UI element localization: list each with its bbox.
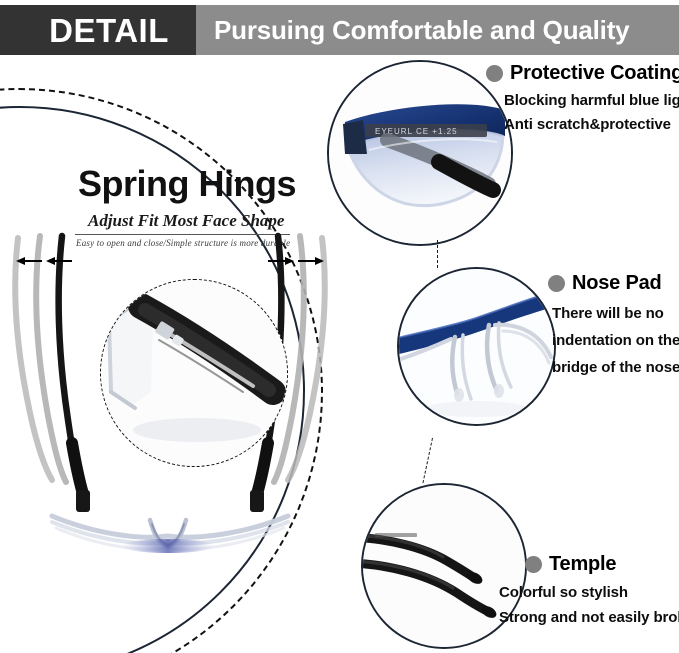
nose-pad-illustration [399,269,554,424]
callout-title: Protective Coating [510,62,679,85]
callout-body-line: Anti scratch&protective [504,116,679,133]
callout-body-line: Colorful so stylish [499,584,679,601]
detail-badge-label: DETAIL [27,14,169,47]
coated-lens-illustration: EYEURL CE +1.25 [329,62,511,244]
callout-text-nose-pad: Nose Pad There will be no indentation on… [548,272,679,376]
callout-text-protective-coating: Protective Coating Blocking harmful blue… [486,62,679,133]
callout-body-line: Strong and not easily broken [499,609,679,626]
hinge-zoom-circle [100,279,288,467]
callout-text-temple: Temple Colorful so stylish Strong and no… [525,553,679,626]
spring-hinge-subtitle: Adjust Fit Most Face Shape [88,211,284,231]
callout-body-line: Blocking harmful blue light [504,92,679,109]
callout-body-line: bridge of the nose [552,359,679,376]
callout-heading: Protective Coating [486,62,679,85]
bullet-dot-icon [525,556,542,573]
product-detail-infographic: DETAIL Pursuing Comfortable and Quality … [0,0,679,653]
header-banner: DETAIL Pursuing Comfortable and Quality [0,5,679,55]
callout-body-line: indentation on the [552,332,679,349]
spring-hinge-title: Spring Hings [78,163,296,205]
tagline-label: Pursuing Comfortable and Quality [196,17,629,43]
divider-rule [75,234,290,235]
bullet-dot-icon [486,65,503,82]
callout-title: Nose Pad [572,272,662,295]
callout-heading: Nose Pad [548,272,679,295]
spring-hinge-fine-print: Easy to open and close/Simple structure … [76,238,290,248]
hinge-detail-illustration [101,280,287,466]
tagline-banner: Pursuing Comfortable and Quality [196,5,679,55]
callout-heading: Temple [525,553,679,576]
bullet-dot-icon [548,275,565,292]
callout-body-line: There will be no [552,305,679,322]
callout-title: Temple [549,553,616,576]
connector-line [422,438,433,483]
callout-circle-nose-pad [397,267,556,426]
detail-badge: DETAIL [0,5,196,55]
